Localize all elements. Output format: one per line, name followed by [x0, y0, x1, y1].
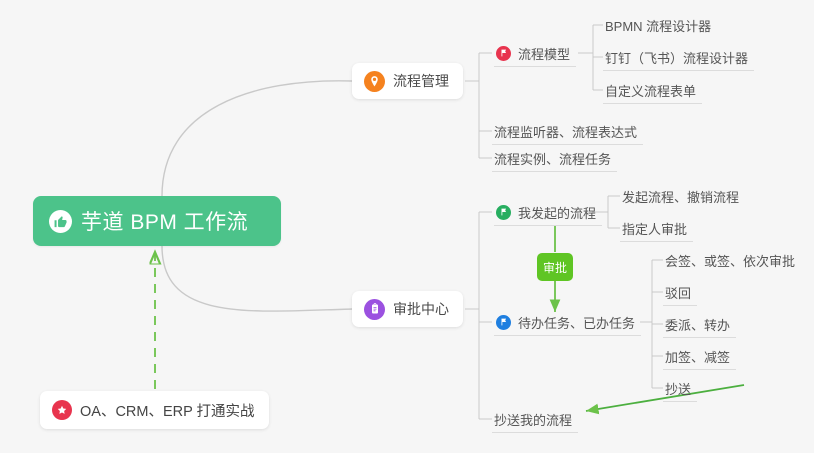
branch-node-liucheng-guanli[interactable]: 流程管理: [352, 63, 463, 99]
node-label-cc-to-me: 抄送我的流程: [494, 410, 572, 429]
node-custom-process-form[interactable]: 自定义流程表单: [603, 77, 702, 104]
node-label-liucheng-moxing: 流程模型: [518, 44, 570, 63]
mindmap-canvas: 芋道 BPM 工作流 流程管理 流程模型 BPMN 流程设计器 钉钉（飞书）流程…: [0, 0, 814, 453]
node-label-countersign: 会签、或签、依次审批: [665, 251, 795, 270]
node-dingtalk-feishu-designer[interactable]: 钉钉（飞书）流程设计器: [603, 44, 754, 71]
node-bpmn-designer[interactable]: BPMN 流程设计器: [603, 12, 717, 39]
annotation-tag-shenpi: 审批: [537, 253, 573, 281]
node-label-add-remove-sign: 加签、减签: [665, 347, 730, 366]
node-start-cancel-process[interactable]: 发起流程、撤销流程: [620, 183, 745, 210]
thumbs-up-icon: [49, 210, 72, 233]
callout-label-oa-crm-erp: OA、CRM、ERP 打通实战: [80, 400, 255, 421]
node-label-bpmn-designer: BPMN 流程设计器: [605, 16, 711, 35]
node-listener-expression[interactable]: 流程监听器、流程表达式: [492, 118, 643, 145]
node-label-instance-task: 流程实例、流程任务: [494, 149, 611, 168]
node-label-todo-done-tasks: 待办任务、已办任务: [518, 313, 635, 332]
node-label-dingtalk-feishu-designer: 钉钉（飞书）流程设计器: [605, 48, 748, 67]
node-my-initiated[interactable]: 我发起的流程: [494, 199, 602, 226]
node-cc[interactable]: 抄送: [663, 375, 697, 402]
branch-label-liucheng-guanli: 流程管理: [393, 71, 449, 91]
wire-root-to-shenpi-zhongxin: [162, 246, 352, 311]
node-assignee-approval[interactable]: 指定人审批: [620, 215, 693, 242]
red-flag-icon: [496, 46, 511, 61]
node-label-custom-process-form: 自定义流程表单: [605, 81, 696, 100]
red-star-icon: [52, 400, 72, 420]
node-delegate-transfer[interactable]: 委派、转办: [663, 311, 736, 338]
node-todo-done-tasks[interactable]: 待办任务、已办任务: [494, 309, 641, 336]
green-flag-icon: [496, 205, 511, 220]
node-label-reject: 驳回: [665, 283, 691, 302]
location-pin-icon: [364, 71, 385, 92]
wire-root-to-liucheng-guanli: [162, 81, 352, 196]
root-node[interactable]: 芋道 BPM 工作流: [33, 196, 281, 246]
node-instance-task[interactable]: 流程实例、流程任务: [492, 145, 617, 172]
node-label-start-cancel-process: 发起流程、撤销流程: [622, 187, 739, 206]
blue-flag-icon: [496, 315, 511, 330]
node-liucheng-moxing[interactable]: 流程模型: [494, 40, 576, 67]
node-label-assignee-approval: 指定人审批: [622, 219, 687, 238]
node-cc-to-me[interactable]: 抄送我的流程: [492, 406, 578, 433]
callout-node-oa-crm-erp[interactable]: OA、CRM、ERP 打通实战: [40, 391, 269, 429]
node-add-remove-sign[interactable]: 加签、减签: [663, 343, 736, 370]
node-reject[interactable]: 驳回: [663, 279, 697, 306]
annotation-tag-label: 审批: [543, 259, 567, 276]
node-label-cc: 抄送: [665, 379, 691, 398]
branch-label-shenpi-zhongxin: 审批中心: [393, 299, 449, 319]
node-label-delegate-transfer: 委派、转办: [665, 315, 730, 334]
node-label-listener-expression: 流程监听器、流程表达式: [494, 122, 637, 141]
node-countersign[interactable]: 会签、或签、依次审批: [663, 247, 801, 274]
branch-node-shenpi-zhongxin[interactable]: 审批中心: [352, 291, 463, 327]
root-label: 芋道 BPM 工作流: [81, 206, 248, 236]
node-label-my-initiated: 我发起的流程: [518, 203, 596, 222]
clipboard-icon: [364, 299, 385, 320]
